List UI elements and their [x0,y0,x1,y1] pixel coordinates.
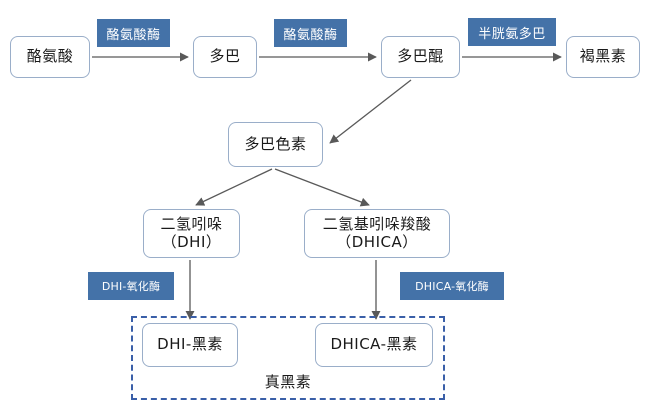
node-tyrosine[interactable]: 酪氨酸 [10,36,90,78]
node-label-primary: 酪氨酸 [27,47,74,65]
node-label-dopachrome: 多巴色素 [229,136,322,154]
node-label-dhi-melanin: DHI-黑素 [143,336,237,354]
node-label-dhi: 二氢吲哚（DHI） [144,216,239,251]
node-label-primary: 多巴 [209,47,240,65]
diagram-canvas: 真黑素 酪氨酸多巴多巴醌褐黑素多巴色素二氢吲哚（DHI）二氢基吲哚羧酸（DHIC… [0,0,650,414]
group-label-eumelanin-group: 真黑素 [131,371,445,392]
node-pheomelanin[interactable]: 褐黑素 [566,36,640,78]
node-dopaquinone[interactable]: 多巴醌 [381,36,460,78]
node-label-dopa: 多巴 [194,48,256,66]
node-dhica[interactable]: 二氢基吲哚羧酸（DHICA） [304,209,450,258]
node-label-primary: 多巴醌 [397,47,444,65]
node-dopa[interactable]: 多巴 [193,36,257,78]
node-label-primary: 二氢基吲哚羧酸 [323,215,432,233]
node-label-dopaquinone: 多巴醌 [382,48,459,66]
node-label-primary: 多巴色素 [244,135,306,153]
enzyme-label-cysteinyldopa[interactable]: 半胱氨多巴 [468,18,556,46]
node-label-primary: 褐黑素 [580,47,627,65]
node-label-dhica-melanin: DHICA-黑素 [316,336,432,354]
edge-dopachrome-to-dhica [275,169,369,205]
enzyme-label-tyrosinase-2[interactable]: 酪氨酸酶 [274,19,347,47]
node-dhi-melanin[interactable]: DHI-黑素 [142,323,238,367]
enzyme-label-tyrosinase-1[interactable]: 酪氨酸酶 [97,19,170,47]
node-label-tyrosine: 酪氨酸 [11,48,89,66]
node-label-pheomelanin: 褐黑素 [567,48,639,66]
node-label-secondary: （DHICA） [305,234,449,252]
enzyme-label-dhica-oxidase[interactable]: DHICA-氧化酶 [400,272,504,300]
node-label-dhica: 二氢基吲哚羧酸（DHICA） [305,216,449,251]
enzyme-label-dhi-oxidase[interactable]: DHI-氧化酶 [88,272,174,300]
node-label-primary: 二氢吲哚 [160,215,222,233]
edge-dopachrome-to-dhi [196,169,272,205]
node-dhi[interactable]: 二氢吲哚（DHI） [143,209,240,258]
edge-dopaquinone-to-dopachrome [330,80,411,143]
node-label-secondary: （DHI） [144,234,239,252]
node-label-primary: DHI-黑素 [157,335,223,353]
node-dhica-melanin[interactable]: DHICA-黑素 [315,323,433,367]
node-label-primary: DHICA-黑素 [330,335,417,353]
node-dopachrome[interactable]: 多巴色素 [228,122,323,167]
